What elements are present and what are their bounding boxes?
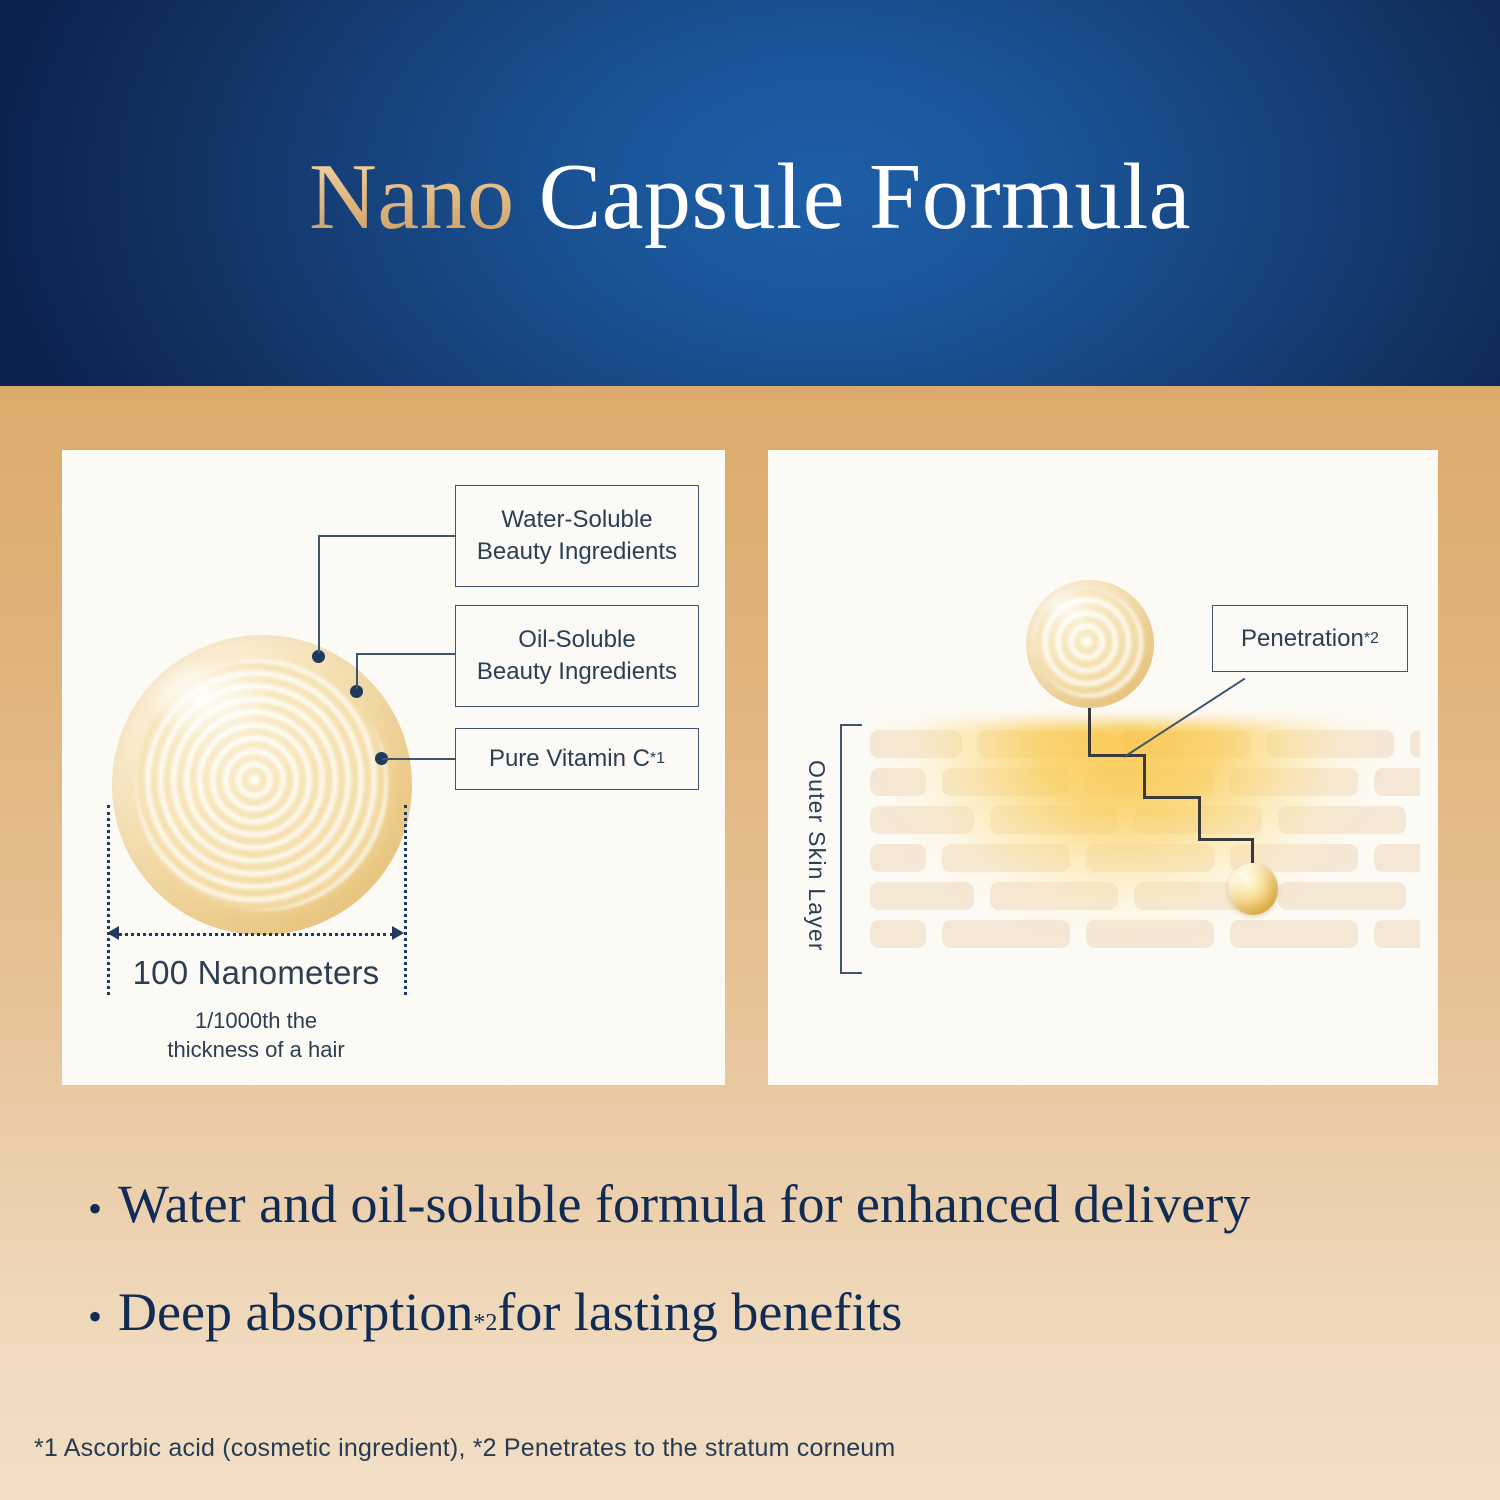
capsule-edge-shading	[112, 635, 412, 935]
penetration-path-segment	[1198, 796, 1201, 840]
skin-brick	[978, 730, 1106, 758]
skin-brick	[1086, 768, 1214, 796]
benefit-text-1: Water and oil-soluble formula for enhanc…	[118, 1175, 1250, 1233]
label-penetration-footnote-ref: *2	[1364, 628, 1379, 649]
skin-brick	[1230, 920, 1358, 948]
measurement-value: 100 Nanometers	[107, 954, 405, 992]
page-title-gold: Nano	[309, 145, 515, 249]
skin-brick	[870, 768, 926, 796]
bullet-marker-icon: •	[88, 1297, 102, 1337]
benefits-list: • Water and oil-soluble formula for enha…	[88, 1175, 1468, 1392]
label-box-pure-vitamin-c[interactable]: Pure Vitamin C*1	[455, 728, 699, 790]
skin-brick	[1374, 768, 1420, 796]
capsule-edge-shading	[1026, 580, 1154, 708]
skin-brick	[870, 882, 974, 910]
skin-brick	[870, 730, 962, 758]
measure-arrow-right	[392, 926, 404, 940]
measure-line	[118, 933, 394, 936]
benefit-text-2-footnote-ref: *2	[473, 1311, 497, 1337]
label-box-penetration[interactable]: Penetration*2	[1212, 605, 1408, 672]
skin-brick	[1230, 768, 1358, 796]
measurement-subtext-line1: 1/1000th the	[107, 1006, 405, 1035]
penetration-path-segment	[1088, 754, 1146, 757]
skin-brick	[942, 844, 1070, 872]
label-box-oil-soluble[interactable]: Oil-Soluble Beauty Ingredients	[455, 605, 699, 707]
measure-arrow-left	[107, 926, 119, 940]
connector-horizontal-water-soluble	[318, 535, 455, 537]
connector-vertical-water-soluble	[318, 535, 320, 653]
skin-brick	[1266, 730, 1394, 758]
skin-brick	[1410, 730, 1420, 758]
skin-brick	[1086, 844, 1214, 872]
benefit-item-2: • Deep absorption*2 for lasting benefits	[88, 1283, 1468, 1341]
connector-horizontal-oil-soluble	[356, 653, 455, 655]
label-water-soluble-line2: Beauty Ingredients	[477, 536, 677, 568]
connector-vertical-oil-soluble	[356, 653, 358, 689]
page-title: Nano Capsule Formula	[0, 150, 1500, 244]
skin-brick	[942, 768, 1070, 796]
right-panel-card: Outer Skin Layer Penetration*2	[768, 450, 1438, 1085]
measurement-subtext: 1/1000th the thickness of a hair	[107, 1006, 405, 1064]
footnote-text: *1 Ascorbic acid (cosmetic ingredient), …	[34, 1434, 895, 1463]
benefit-text-2b: for lasting benefits	[497, 1283, 902, 1341]
skin-brick	[870, 920, 926, 948]
skin-brick	[1374, 844, 1420, 872]
outer-skin-layer-bracket	[840, 724, 862, 974]
bullet-marker-icon: •	[88, 1189, 102, 1229]
connector-horizontal-vitamin-c	[382, 758, 455, 760]
skin-brick	[1278, 882, 1406, 910]
label-oil-soluble-line1: Oil-Soluble	[518, 624, 635, 656]
benefit-text-2a: Deep absorption	[118, 1283, 473, 1341]
skin-brick	[1278, 806, 1406, 834]
label-pure-vitamin-c-footnote-ref: *1	[650, 748, 665, 769]
label-box-water-soluble[interactable]: Water-Soluble Beauty Ingredients	[455, 485, 699, 587]
page-title-white: Capsule Formula	[539, 145, 1191, 249]
penetrating-droplet	[1228, 863, 1278, 915]
label-oil-soluble-line2: Beauty Ingredients	[477, 656, 677, 688]
measurement-subtext-line2: thickness of a hair	[107, 1035, 405, 1064]
skin-brick	[870, 844, 926, 872]
label-penetration: Penetration	[1241, 623, 1364, 655]
penetration-path-segment	[1198, 838, 1254, 841]
benefit-item-1: • Water and oil-soluble formula for enha…	[88, 1175, 1468, 1233]
skin-brick	[942, 920, 1070, 948]
left-panel-card: Water-Soluble Beauty Ingredients Oil-Sol…	[62, 450, 725, 1085]
label-pure-vitamin-c: Pure Vitamin C	[489, 743, 650, 775]
skin-brick	[990, 806, 1118, 834]
penetration-path-segment	[1143, 754, 1146, 798]
penetration-path-segment	[1143, 796, 1201, 799]
nano-capsule-sphere	[112, 635, 412, 935]
skin-brick	[870, 806, 974, 834]
penetration-path-segment	[1088, 708, 1091, 756]
outer-skin-layer-label: Outer Skin Layer	[803, 760, 830, 952]
header-banner: Nano Capsule Formula	[0, 0, 1500, 386]
skin-brick	[1086, 920, 1214, 948]
skin-brick	[1374, 920, 1420, 948]
skin-brick	[990, 882, 1118, 910]
surface-capsule-sphere	[1026, 580, 1154, 708]
label-water-soluble-line1: Water-Soluble	[501, 504, 652, 536]
